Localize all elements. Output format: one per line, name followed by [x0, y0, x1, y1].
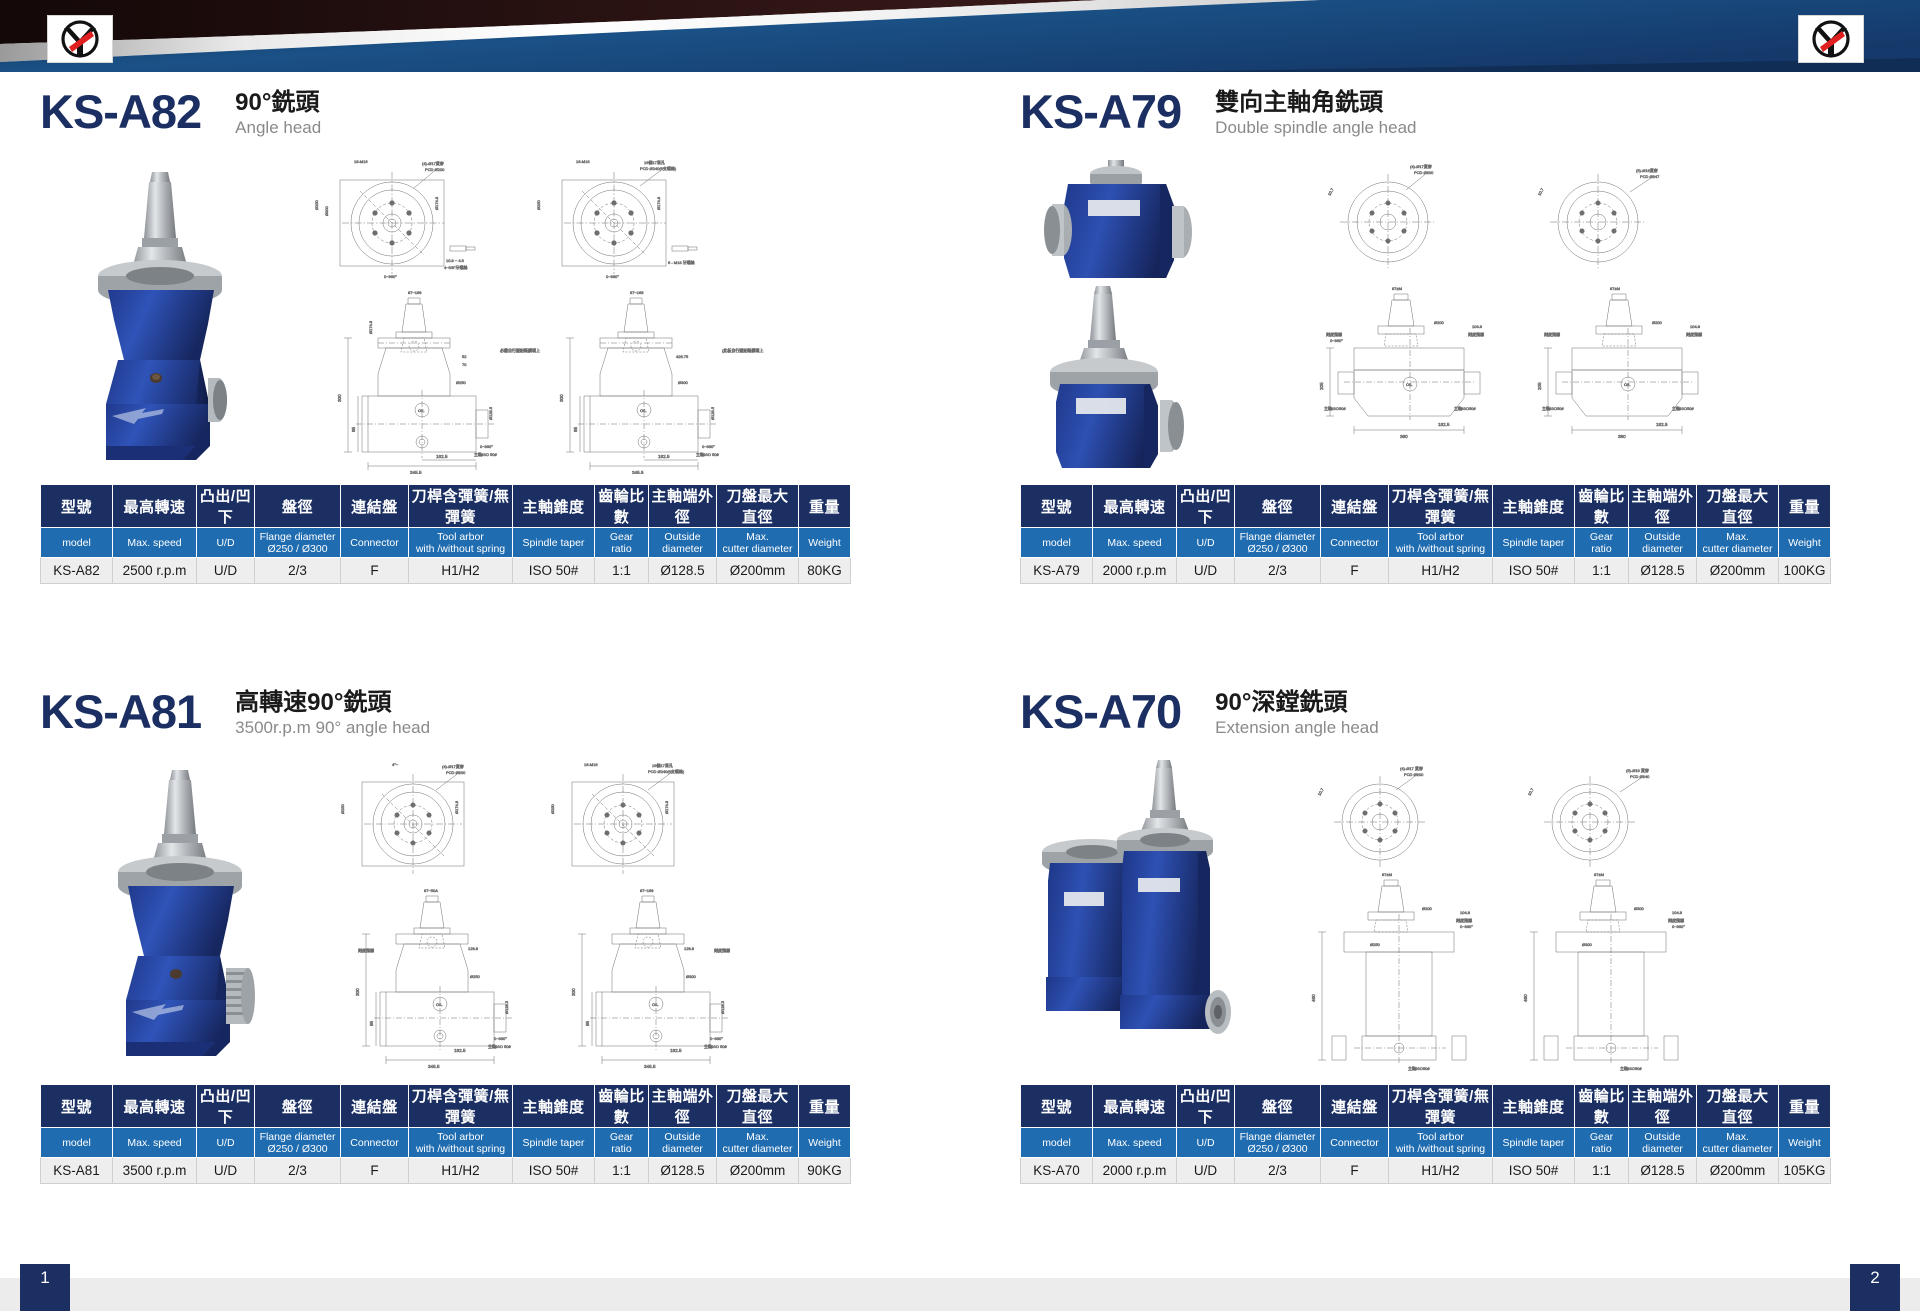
svg-text:(4)-Ø17貫穿: (4)-Ø17貫穿: [1410, 163, 1432, 169]
svg-text:PCD Ø200: PCD Ø200: [425, 167, 445, 172]
ks-a81-product-photo: [80, 762, 300, 1077]
svg-text:4°~: 4°~: [392, 762, 399, 767]
cell-cutter: Ø200mm: [1697, 1158, 1779, 1184]
svg-text:182.5: 182.5: [658, 454, 670, 459]
svg-text:10.7: 10.7: [1317, 787, 1326, 797]
svg-text:104.8: 104.8: [1472, 324, 1483, 329]
svg-text:345.5: 345.5: [410, 470, 422, 474]
svg-text:Ø250: Ø250: [550, 803, 555, 814]
cell-flange: 2/3: [255, 558, 341, 584]
svg-text:0~360°: 0~360°: [1330, 338, 1343, 343]
svg-text:刻度指標: 刻度指標: [1456, 917, 1472, 923]
cell-weight: 90KG: [799, 1158, 851, 1184]
th-cn-flange: 盤徑: [255, 485, 341, 528]
svg-text:OIL: OIL: [652, 1002, 659, 1007]
svg-text:PCD Ø200: PCD Ø200: [1414, 170, 1434, 175]
cell-flange: 2/3: [1235, 558, 1321, 584]
th-cn-weight: 重量: [799, 1085, 851, 1128]
svg-text:10.8 ~ 4.6: 10.8 ~ 4.6: [446, 258, 465, 263]
svg-text:Ø128.5: Ø128.5: [488, 406, 493, 420]
cell-speed: 2000 r.p.m: [1093, 1158, 1177, 1184]
svg-text:16個17直孔: 16個17直孔: [644, 159, 665, 165]
th-en-ud: U/D: [197, 528, 255, 558]
svg-text:129.8: 129.8: [468, 946, 479, 951]
th-en-od: Outsidediameter: [649, 528, 717, 558]
th-cn-ud: 凸出/凹下: [1177, 1085, 1235, 1128]
svg-text:360: 360: [1618, 434, 1626, 439]
svg-text:0~360°: 0~360°: [710, 1036, 723, 1041]
table-row: KS-A82 2500 r.p.m U/D 2/3 F H1/H2 ISO 50…: [41, 558, 851, 584]
cell-speed: 3500 r.p.m: [113, 1158, 197, 1184]
th-en-cutter: Max.cutter diameter: [717, 528, 799, 558]
ks-a79-product-photo: [1030, 154, 1250, 479]
th-en-conn: Connector: [1321, 1128, 1389, 1158]
th-en-model: model: [1021, 528, 1093, 558]
svg-text:6 - M18 牙螺絲: 6 - M18 牙螺絲: [668, 259, 695, 265]
th-cn-arbor: 刀桿含彈簧/無彈簧: [409, 1085, 513, 1128]
svg-text:主軸ISO50#: 主軸ISO50#: [1542, 405, 1564, 411]
th-cn-arbor: 刀桿含彈簧/無彈簧: [1389, 485, 1493, 528]
cell-weight: 80KG: [799, 558, 851, 584]
svg-text:360: 360: [1400, 434, 1408, 439]
cell-gear: 1:1: [1575, 1158, 1629, 1184]
svg-text:4~5/8"牙螺絲: 4~5/8"牙螺絲: [444, 264, 468, 270]
th-en-cutter: Max.cutter diameter: [717, 1128, 799, 1158]
th-cn-model: 型號: [41, 485, 113, 528]
cell-taper: ISO 50#: [1493, 558, 1575, 584]
svg-text:主軸ISO 50#: 主軸ISO 50#: [696, 451, 719, 457]
svg-text:0~360°: 0~360°: [1672, 924, 1685, 929]
svg-text:Ø174.8: Ø174.8: [368, 320, 373, 334]
cell-cutter: Ø200mm: [717, 1158, 799, 1184]
table-header-cn: 型號 最高轉速 凸出/凹下 盤徑 連結盤 刀桿含彈簧/無彈簧 主軸錐度 齒輪比數…: [1021, 1085, 1831, 1128]
th-en-gear: Gearratio: [1575, 528, 1629, 558]
svg-text:Ø300: Ø300: [1582, 942, 1593, 947]
th-en-arbor: Tool arborwith /without spring: [409, 528, 513, 558]
svg-text:(6)-Ø19貫穿: (6)-Ø19貫穿: [1636, 167, 1658, 173]
svg-text:16個17直孔: 16個17直孔: [652, 762, 673, 768]
svg-text:0~360°: 0~360°: [494, 1036, 507, 1041]
cell-taper: ISO 50#: [513, 558, 595, 584]
th-en-conn: Connector: [341, 1128, 409, 1158]
footer-divider: [0, 1271, 1920, 1278]
svg-text:87~169: 87~169: [640, 888, 654, 893]
svg-text:主軸ISO50#: 主軸ISO50#: [1672, 405, 1694, 411]
svg-text:104.8: 104.8: [1460, 910, 1471, 915]
svg-text:OIL: OIL: [418, 408, 425, 413]
product-heading: KS-A70 90°深鏜銑頭 Extension angle head: [1020, 686, 1760, 748]
svg-text:Ø250: Ø250: [456, 380, 467, 385]
svg-text:300: 300: [571, 988, 576, 996]
ks-a81-technical-drawings: (4)-Ø17貫穿 PCD Ø200 4°~ Ø250 Ø174.8: [310, 754, 780, 1074]
cell-ud: U/D: [1177, 1158, 1235, 1184]
product-figures: (4)-Ø17 貫穿 PCD Ø200 10.7: [1020, 754, 1760, 1084]
product-model-code: KS-A70: [1020, 686, 1181, 738]
th-cn-cutter: 刀盤最大直徑: [1697, 485, 1779, 528]
svg-text:主軸ISO50#: 主軸ISO50#: [1408, 1065, 1430, 1071]
svg-text:Ø200: Ø200: [1652, 320, 1663, 325]
cell-arbor: H1/H2: [1389, 558, 1493, 584]
th-cn-ud: 凸出/凹下: [1177, 485, 1235, 528]
svg-text:85: 85: [351, 426, 356, 432]
table-header-en: model Max. speed U/D Flange diameterØ250…: [1021, 1128, 1831, 1158]
svg-text:345.5: 345.5: [428, 1064, 440, 1069]
th-en-weight: Weight: [1779, 1128, 1831, 1158]
th-en-flange: Flange diameterØ250 / Ø300: [255, 528, 341, 558]
th-en-speed: Max. speed: [1093, 528, 1177, 558]
svg-text:16-M16: 16-M16: [354, 159, 368, 164]
svg-text:PCD Ø240(6支螺絲): PCD Ø240(6支螺絲): [640, 165, 677, 171]
page-number-right: 2: [1850, 1264, 1900, 1311]
svg-text:Ø250: Ø250: [470, 974, 481, 979]
product-heading: KS-A82 90°銑頭 Angle head: [40, 86, 780, 148]
svg-text:104.8: 104.8: [1672, 910, 1683, 915]
cell-cutter: Ø200mm: [717, 558, 799, 584]
svg-text:Ø300: Ø300: [324, 205, 329, 216]
table-header-cn: 型號 最高轉速 凸出/凹下 盤徑 連結盤 刀桿含彈簧/無彈簧 主軸錐度 齒輪比數…: [41, 485, 851, 528]
th-en-taper: Spindle taper: [513, 1128, 595, 1158]
svg-text:Ø174.8: Ø174.8: [434, 196, 439, 210]
product-name-en: Angle head: [235, 117, 321, 139]
ks-a82-product-photo: [60, 164, 280, 479]
svg-text:0~360°: 0~360°: [702, 444, 715, 449]
svg-text:Ø300: Ø300: [1634, 906, 1645, 911]
svg-text:10.7: 10.7: [1327, 187, 1336, 197]
th-cn-model: 型號: [1021, 485, 1093, 528]
svg-text:刻度指標: 刻度指標: [1668, 917, 1684, 923]
cell-cutter: Ø200mm: [1697, 558, 1779, 584]
th-cn-gear: 齒輪比數: [595, 485, 649, 528]
svg-text:主軸ISO50#: 主軸ISO50#: [1324, 405, 1346, 411]
svg-text:刻度指標: 刻度指標: [1686, 331, 1702, 337]
product-block-ks-a79: KS-A79 雙向主軸角銑頭 Double spindle angle head: [1020, 86, 1760, 584]
svg-text:PCD Ø247: PCD Ø247: [1640, 174, 1660, 179]
product-heading: KS-A79 雙向主軸角銑頭 Double spindle angle head: [1020, 86, 1760, 148]
cell-ud: U/D: [1177, 558, 1235, 584]
svg-text:182.5: 182.5: [1656, 422, 1668, 427]
th-cn-cutter: 刀盤最大直徑: [717, 485, 799, 528]
th-en-od: Outsidediameter: [1629, 1128, 1697, 1158]
product-block-ks-a70: KS-A70 90°深鏜銑頭 Extension angle head: [1020, 686, 1760, 1184]
svg-text:(4)-Ø17 貫穿: (4)-Ø17 貫穿: [1400, 765, 1423, 771]
svg-text:87±M: 87±M: [1382, 872, 1392, 877]
th-cn-speed: 最高轉速: [1093, 485, 1177, 528]
th-cn-od: 主軸端外徑: [649, 485, 717, 528]
th-cn-arbor: 刀桿含彈簧/無彈簧: [409, 485, 513, 528]
table-row: KS-A79 2000 r.p.m U/D 2/3 F H1/H2 ISO 50…: [1021, 558, 1831, 584]
svg-text:PCD Ø240(6支螺絲): PCD Ø240(6支螺絲): [648, 768, 685, 774]
table-row: KS-A81 3500 r.p.m U/D 2/3 F H1/H2 ISO 50…: [41, 1158, 851, 1184]
svg-text:300: 300: [337, 394, 342, 402]
th-en-arbor: Tool arborwith /without spring: [409, 1128, 513, 1158]
th-cn-conn: 連結盤: [341, 485, 409, 528]
svg-text:182.5: 182.5: [454, 1048, 466, 1053]
svg-text:Ø300: Ø300: [686, 974, 697, 979]
th-cn-od: 主軸端外徑: [649, 1085, 717, 1128]
spec-table-ks-a81: 型號 最高轉速 凸出/凹下 盤徑 連結盤 刀桿含彈簧/無彈簧 主軸錐度 齒輪比數…: [40, 1084, 851, 1184]
th-en-arbor: Tool arborwith /without spring: [1389, 1128, 1493, 1158]
svg-text:300: 300: [559, 394, 564, 402]
th-en-taper: Spindle taper: [513, 528, 595, 558]
svg-text:87~169: 87~169: [630, 290, 644, 295]
svg-text:(4)-Ø17貫穿: (4)-Ø17貫穿: [442, 763, 464, 769]
cell-od: Ø128.5: [1629, 558, 1697, 584]
cell-model: KS-A79: [1021, 558, 1093, 584]
svg-text:Ø250: Ø250: [340, 803, 345, 814]
svg-text:129.8: 129.8: [684, 946, 695, 951]
th-cn-taper: 主軸錐度: [513, 485, 595, 528]
svg-text:10.7: 10.7: [1537, 187, 1546, 197]
svg-text:87~50A: 87~50A: [424, 888, 438, 893]
svg-text:0~360°: 0~360°: [384, 274, 397, 279]
th-cn-cutter: 刀盤最大直徑: [1697, 1085, 1779, 1128]
svg-text:OIL: OIL: [436, 1002, 443, 1007]
cell-od: Ø128.5: [649, 1158, 717, 1184]
catalog-page: KS-A82 90°銑頭 Angle head: [0, 0, 1920, 1311]
svg-text:460: 460: [1523, 994, 1528, 1002]
svg-text:刻度指標: 刻度指標: [1326, 331, 1342, 337]
svg-text:Ø200: Ø200: [1422, 906, 1433, 911]
th-en-taper: Spindle taper: [1493, 1128, 1575, 1158]
th-en-model: model: [41, 528, 113, 558]
table-header-cn: 型號 最高轉速 凸出/凹下 盤徑 連結盤 刀桿含彈簧/無彈簧 主軸錐度 齒輪比數…: [41, 1085, 851, 1128]
th-en-weight: Weight: [799, 1128, 851, 1158]
th-cn-ud: 凸出/凹下: [197, 1085, 255, 1128]
th-cn-conn: 連結盤: [1321, 485, 1389, 528]
cell-ud: U/D: [197, 558, 255, 584]
th-en-cutter: Max.cutter diameter: [1697, 528, 1779, 558]
svg-text:85: 85: [585, 1020, 590, 1026]
cell-arbor: H1/H2: [1389, 1158, 1493, 1184]
svg-text:345.5: 345.5: [644, 1064, 656, 1069]
svg-text:16-M16: 16-M16: [584, 762, 598, 767]
svg-text:16-M16: 16-M16: [576, 159, 590, 164]
svg-text:345.5: 345.5: [632, 470, 644, 474]
svg-text:主軸ISO50#: 主軸ISO50#: [1620, 1065, 1642, 1071]
cell-flange: 2/3: [1235, 1158, 1321, 1184]
th-cn-arbor: 刀桿含彈簧/無彈簧: [1389, 1085, 1493, 1128]
th-cn-flange: 盤徑: [1235, 1085, 1321, 1128]
th-cn-model: 型號: [41, 1085, 113, 1128]
th-cn-gear: 齒輪比數: [1575, 485, 1629, 528]
svg-text:PCD Ø200: PCD Ø200: [446, 770, 466, 775]
product-name-cn: 90°深鏜銑頭: [1215, 689, 1379, 717]
th-en-weight: Weight: [1779, 528, 1831, 558]
th-cn-cutter: 刀盤最大直徑: [717, 1085, 799, 1128]
cell-model: KS-A70: [1021, 1158, 1093, 1184]
th-en-flange: Flange diameterØ250 / Ø300: [1235, 1128, 1321, 1158]
page-number-left: 1: [20, 1264, 70, 1311]
cell-speed: 2000 r.p.m: [1093, 558, 1177, 584]
cell-arbor: H1/H2: [409, 1158, 513, 1184]
svg-text:Ø300: Ø300: [678, 380, 689, 385]
cell-conn: F: [341, 558, 409, 584]
th-cn-model: 型號: [1021, 1085, 1093, 1128]
ks-a70-technical-drawings: (4)-Ø17 貫穿 PCD Ø200 10.7: [1260, 754, 1750, 1074]
svg-text:Ø250: Ø250: [536, 199, 541, 210]
th-en-speed: Max. speed: [113, 528, 197, 558]
th-en-speed: Max. speed: [113, 1128, 197, 1158]
table-header-cn: 型號 最高轉速 凸出/凹下 盤徑 連結盤 刀桿含彈簧/無彈簧 主軸錐度 齒輪比數…: [1021, 485, 1831, 528]
product-model-code: KS-A82: [40, 86, 201, 138]
table-header-en: model Max. speed U/D Flange diameterØ250…: [41, 1128, 851, 1158]
svg-text:87~169: 87~169: [408, 290, 422, 295]
th-cn-taper: 主軸錐度: [1493, 1085, 1575, 1128]
spec-table-ks-a70: 型號 最高轉速 凸出/凹下 盤徑 連結盤 刀桿含彈簧/無彈簧 主軸錐度 齒輪比數…: [1020, 1084, 1831, 1184]
th-en-ud: U/D: [1177, 528, 1235, 558]
th-en-model: model: [41, 1128, 113, 1158]
cell-model: KS-A82: [41, 558, 113, 584]
product-model-code: KS-A81: [40, 686, 201, 738]
th-cn-od: 主軸端外徑: [1629, 485, 1697, 528]
th-en-ud: U/D: [1177, 1128, 1235, 1158]
svg-text:主軸ISO 50#: 主軸ISO 50#: [488, 1043, 511, 1049]
svg-text:Ø128.5: Ø128.5: [504, 1000, 509, 1014]
svg-text:104.8: 104.8: [1690, 324, 1701, 329]
th-en-gear: Gearratio: [1575, 1128, 1629, 1158]
table-header-en: model Max. speed U/D Flange diameterØ250…: [41, 528, 851, 558]
svg-text:87±M: 87±M: [1610, 286, 1620, 291]
product-name-cn: 高轉速90°銑頭: [235, 689, 430, 717]
svg-text:85: 85: [369, 1020, 374, 1026]
th-en-arbor: Tool arborwith /without spring: [1389, 528, 1493, 558]
svg-text:主軸ISO 50#: 主軸ISO 50#: [704, 1043, 727, 1049]
svg-text:Ø250: Ø250: [1370, 942, 1381, 947]
th-en-weight: Weight: [799, 528, 851, 558]
th-cn-taper: 主軸錐度: [1493, 485, 1575, 528]
svg-text:182.5: 182.5: [436, 454, 448, 459]
product-figures: (4)-Ø17貫穿 PCD Ø200 4°~ Ø250 Ø174.8: [40, 754, 780, 1084]
th-cn-gear: 齒輪比數: [1575, 1085, 1629, 1128]
svg-text:PCD Ø200: PCD Ø200: [1404, 772, 1424, 777]
cell-gear: 1:1: [595, 1158, 649, 1184]
table-header-en: model Max. speed U/D Flange diameterØ250…: [1021, 528, 1831, 558]
product-figures: (4)-Ø17貫穿 PCD Ø200 10.7: [1020, 154, 1760, 484]
th-en-flange: Flange diameterØ250 / Ø300: [255, 1128, 341, 1158]
spec-table-ks-a79: 型號 最高轉速 凸出/凹下 盤徑 連結盤 刀桿含彈簧/無彈簧 主軸錐度 齒輪比數…: [1020, 484, 1831, 584]
svg-text:0~360°: 0~360°: [606, 274, 619, 279]
company-logo-left: [47, 15, 113, 63]
svg-text:300: 300: [355, 988, 360, 996]
th-cn-flange: 盤徑: [255, 1085, 341, 1128]
company-logo-right: [1798, 15, 1864, 63]
th-cn-conn: 連結盤: [1321, 1085, 1389, 1128]
svg-text:426.75: 426.75: [676, 354, 689, 359]
th-cn-weight: 重量: [1779, 1085, 1831, 1128]
th-en-od: Outsidediameter: [649, 1128, 717, 1158]
th-cn-od: 主軸端外徑: [1629, 1085, 1697, 1128]
product-name-en: Extension angle head: [1215, 717, 1379, 739]
svg-text:PCD Ø240: PCD Ø240: [1630, 774, 1650, 779]
cell-od: Ø128.5: [1629, 1158, 1697, 1184]
product-figures: (4)-Ø17貫穿 PCD Ø200 16-M16 10.8 ~ 4.6 4~5…: [40, 154, 780, 484]
th-cn-gear: 齒輪比數: [595, 1085, 649, 1128]
product-model-code: KS-A79: [1020, 86, 1181, 138]
product-name-en: 3500r.p.m 90° angle head: [235, 717, 430, 739]
product-name-cn: 雙向主軸角銑頭: [1215, 89, 1416, 117]
svg-text:刻度指標: 刻度指標: [1468, 331, 1484, 337]
svg-text:182.5: 182.5: [670, 1048, 682, 1053]
svg-text:460: 460: [1311, 994, 1316, 1002]
th-cn-speed: 最高轉速: [1093, 1085, 1177, 1128]
th-en-speed: Max. speed: [1093, 1128, 1177, 1158]
svg-text:刻度指標: 刻度指標: [358, 947, 374, 953]
svg-text:Ø174.8: Ø174.8: [664, 800, 669, 814]
spec-table-ks-a82: 型號 最高轉速 凸出/凹下 盤徑 連結盤 刀桿含彈簧/無彈簧 主軸錐度 齒輪比數…: [40, 484, 851, 584]
cell-conn: F: [1321, 1158, 1389, 1184]
th-cn-conn: 連結盤: [341, 1085, 409, 1128]
svg-text:(此板自行搬配斷續環上: (此板自行搬配斷續環上: [722, 347, 763, 353]
th-en-gear: Gearratio: [595, 528, 649, 558]
svg-text:182.5: 182.5: [1438, 422, 1450, 427]
ks-a82-technical-drawings: (4)-Ø17貫穿 PCD Ø200 16-M16 10.8 ~ 4.6 4~5…: [290, 154, 770, 474]
th-en-model: model: [1021, 1128, 1093, 1158]
svg-text:205: 205: [1537, 382, 1542, 390]
svg-text:主軸ISO50#: 主軸ISO50#: [1454, 405, 1476, 411]
th-cn-taper: 主軸錐度: [513, 1085, 595, 1128]
th-en-taper: Spindle taper: [1493, 528, 1575, 558]
svg-text:Ø250: Ø250: [314, 199, 319, 210]
svg-text:10.7: 10.7: [1527, 787, 1536, 797]
th-en-conn: Connector: [1321, 528, 1389, 558]
svg-text:Ø174.8: Ø174.8: [454, 800, 459, 814]
th-en-conn: Connector: [341, 528, 409, 558]
cell-weight: 105KG: [1779, 1158, 1831, 1184]
th-en-flange: Flange diameterØ250 / Ø300: [1235, 528, 1321, 558]
svg-text:OIL: OIL: [1406, 382, 1413, 387]
cell-od: Ø128.5: [649, 558, 717, 584]
th-en-od: Outsidediameter: [1629, 528, 1697, 558]
svg-text:(6)-Ø19 貫穿: (6)-Ø19 貫穿: [1626, 767, 1649, 773]
th-cn-flange: 盤徑: [1235, 485, 1321, 528]
svg-text:85: 85: [573, 426, 578, 432]
cell-gear: 1:1: [1575, 558, 1629, 584]
svg-text:Ø128.5: Ø128.5: [720, 1000, 725, 1014]
cell-arbor: H1/H2: [409, 558, 513, 584]
svg-text:87±M: 87±M: [1594, 872, 1604, 877]
svg-text:Ø174.8: Ø174.8: [656, 196, 661, 210]
svg-text:205: 205: [1319, 382, 1324, 390]
product-name-cn: 90°銑頭: [235, 89, 321, 117]
product-heading: KS-A81 高轉速90°銑頭 3500r.p.m 90° angle head: [40, 686, 780, 748]
svg-text:(4)-Ø17貫穿: (4)-Ø17貫穿: [422, 160, 444, 166]
svg-text:刻度指標: 刻度指標: [1544, 331, 1560, 337]
svg-text:Ø128.5: Ø128.5: [710, 406, 715, 420]
svg-text:0~360°: 0~360°: [1460, 924, 1473, 929]
page-header-banner: [0, 0, 1920, 72]
product-name-en: Double spindle angle head: [1215, 117, 1416, 139]
cell-model: KS-A81: [41, 1158, 113, 1184]
svg-text:Ø200: Ø200: [1434, 320, 1445, 325]
svg-text:0~360°: 0~360°: [480, 444, 493, 449]
th-en-ud: U/D: [197, 1128, 255, 1158]
cell-taper: ISO 50#: [1493, 1158, 1575, 1184]
svg-text:OIL: OIL: [1624, 382, 1631, 387]
svg-text:70: 70: [462, 362, 467, 367]
cell-weight: 100KG: [1779, 558, 1831, 584]
ks-a70-product-photo: [1020, 754, 1250, 1079]
cell-conn: F: [1321, 558, 1389, 584]
th-cn-ud: 凸出/凹下: [197, 485, 255, 528]
cell-conn: F: [341, 1158, 409, 1184]
th-cn-speed: 最高轉速: [113, 485, 197, 528]
th-cn-weight: 重量: [1779, 485, 1831, 528]
footer-bar: [0, 1278, 1920, 1311]
th-en-gear: Gearratio: [595, 1128, 649, 1158]
th-cn-speed: 最高轉速: [113, 1085, 197, 1128]
svg-text:52: 52: [462, 354, 467, 359]
svg-text:OIL: OIL: [640, 408, 647, 413]
